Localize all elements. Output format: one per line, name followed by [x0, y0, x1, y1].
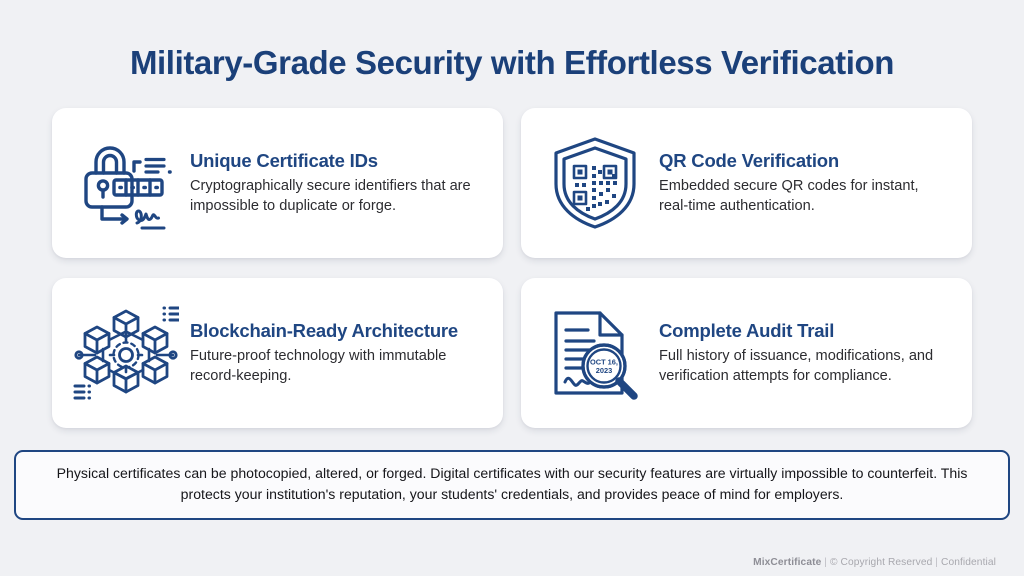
audit-stamp-line-2: 2023 [596, 366, 612, 375]
feature-card-body: Blockchain-Ready Architecture Future-pro… [182, 320, 481, 386]
feature-card-body: Complete Audit Trail Full history of iss… [651, 320, 950, 386]
footer: MixCertificate | © Copyright Reserved | … [0, 557, 1024, 576]
document-magnifier-audit-icon: OCT 16, 2023 [539, 301, 651, 405]
feature-card-qr-code-verification[interactable]: QR Code Verification Embedded secure QR … [521, 108, 972, 258]
slide-root: Military-Grade Security with Effortless … [0, 0, 1024, 576]
feature-card-blockchain-ready-architecture[interactable]: Blockchain-Ready Architecture Future-pro… [52, 278, 503, 428]
footer-copyright: © Copyright Reserved [830, 557, 932, 568]
footer-brand: MixCertificate [753, 557, 821, 568]
feature-card-title: Unique Certificate IDs [190, 150, 481, 172]
blockchain-network-icon [70, 301, 182, 405]
feature-card-title: QR Code Verification [659, 150, 950, 172]
feature-card-grid: Unique Certificate IDs Cryptographically… [52, 108, 972, 428]
feature-card-body: Unique Certificate IDs Cryptographically… [182, 150, 481, 216]
feature-card-complete-audit-trail[interactable]: OCT 16, 2023 Complete Audit Trail Full h… [521, 278, 972, 428]
feature-card-description: Full history of issuance, modifications,… [659, 347, 950, 386]
feature-card-description: Cryptographically secure identifiers tha… [190, 177, 481, 216]
feature-card-body: QR Code Verification Embedded secure QR … [651, 150, 950, 216]
footer-confidential: Confidential [941, 557, 996, 568]
feature-card-title: Blockchain-Ready Architecture [190, 320, 481, 342]
shield-qr-code-icon [539, 131, 651, 235]
footer-separator-1: | [824, 557, 827, 568]
title-section: Military-Grade Security with Effortless … [0, 0, 1024, 82]
footer-separator-2: | [935, 557, 938, 568]
feature-card-title: Complete Audit Trail [659, 320, 950, 342]
padlock-id-signature-icon [70, 131, 182, 235]
callout-box: Physical certificates can be photocopied… [14, 450, 1010, 520]
feature-card-description: Future-proof technology with immutable r… [190, 347, 481, 386]
page-title: Military-Grade Security with Effortless … [40, 44, 984, 82]
feature-card-description: Embedded secure QR codes for instant, re… [659, 177, 950, 216]
feature-card-unique-certificate-ids[interactable]: Unique Certificate IDs Cryptographically… [52, 108, 503, 258]
callout-text: Physical certificates can be photocopied… [34, 463, 990, 506]
